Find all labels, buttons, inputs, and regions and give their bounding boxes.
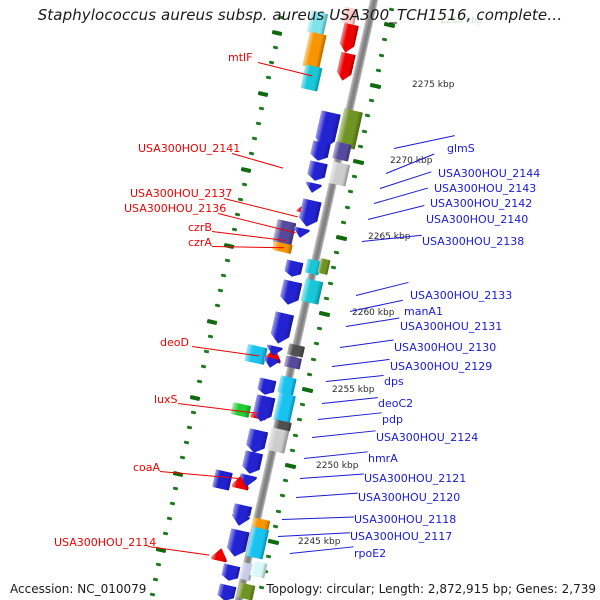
axis-major-tick [318, 311, 330, 317]
axis-minor-tick [221, 273, 227, 277]
gene-feature-body [250, 561, 268, 579]
axis-minor-tick [351, 175, 357, 179]
gene-label[interactable]: USA300HOU_2121 [364, 473, 466, 484]
axis-minor-tick [252, 137, 258, 141]
axis-minor-tick [197, 380, 203, 384]
axis-minor-tick [183, 441, 189, 445]
axis-minor-tick [173, 486, 179, 490]
gene-label[interactable]: USA300HOU_2130 [394, 342, 496, 353]
gene-label[interactable]: USA300HOU_2137 [130, 188, 232, 199]
axis-major-tick [353, 159, 365, 165]
axis-major-tick [258, 91, 269, 97]
axis-minor-tick [344, 205, 350, 209]
gene-label[interactable]: manA1 [404, 306, 443, 317]
axis-tick-label: 2245 kbp [298, 537, 340, 547]
axis-minor-tick [156, 562, 162, 566]
axis-minor-tick [283, 479, 289, 483]
axis-tick-label: 2250 kbp [316, 461, 358, 471]
genome-viewer: 2280 kbp2275 kbp2270 kbp2265 kbp2260 kbp… [0, 0, 600, 600]
axis-minor-tick [382, 38, 388, 42]
gene-label[interactable]: USA300HOU_2117 [350, 531, 452, 542]
gene-label[interactable]: deoC2 [378, 398, 413, 409]
axis-minor-tick [180, 456, 186, 460]
gene-label[interactable]: USA300HOU_2120 [358, 492, 460, 503]
axis-minor-tick [279, 494, 285, 498]
axis-minor-tick [149, 593, 155, 597]
gene-label[interactable]: USA300HOU_2118 [354, 514, 456, 525]
axis-minor-tick [242, 182, 248, 186]
axis-minor-tick [297, 418, 303, 422]
gene-label[interactable]: luxS [154, 394, 178, 405]
axis-minor-tick [317, 327, 323, 331]
gene-feature[interactable] [220, 563, 240, 582]
axis-minor-tick [166, 517, 172, 521]
axis-minor-tick [218, 289, 224, 293]
axis-minor-tick [379, 53, 385, 57]
axis-minor-tick [358, 144, 364, 148]
gene-feature-body [283, 259, 303, 278]
gene-feature[interactable] [283, 259, 303, 278]
axis-minor-tick [224, 258, 230, 262]
axis-minor-tick [187, 425, 193, 429]
axis-minor-tick [266, 555, 272, 559]
gene-feature-body [237, 582, 256, 600]
axis-tick-label: 2275 kbp [412, 80, 454, 90]
axis-minor-tick [259, 106, 265, 110]
axis-minor-tick [255, 121, 261, 125]
axis-minor-tick [375, 68, 381, 72]
axis-minor-tick [207, 334, 213, 338]
axis-minor-tick [310, 357, 316, 361]
axis-major-tick [267, 539, 279, 545]
axis-minor-tick [341, 220, 347, 224]
axis-minor-tick [163, 532, 169, 536]
page-title: Staphylococcus aureus subsp. aureus USA3… [0, 6, 600, 24]
gene-feature[interactable] [250, 561, 268, 579]
gene-label[interactable]: USA300HOU_2138 [422, 236, 524, 247]
axis-minor-tick [365, 114, 371, 118]
axis-major-tick [284, 463, 296, 469]
gene-label[interactable]: pdp [382, 414, 403, 425]
axis-minor-tick [293, 433, 299, 437]
axis-minor-tick [272, 45, 278, 49]
axis-major-tick [272, 30, 283, 36]
axis-minor-tick [266, 76, 272, 80]
gene-label[interactable]: coaA [133, 462, 160, 473]
axis-minor-tick [214, 304, 220, 308]
gene-label[interactable]: hmrA [368, 453, 398, 464]
gene-feature[interactable] [237, 582, 256, 600]
gene-label[interactable]: USA300HOU_2143 [434, 183, 536, 194]
axis-minor-tick [259, 585, 265, 589]
axis-minor-tick [204, 349, 210, 353]
gene-label[interactable]: USA300HOU_2124 [376, 432, 478, 443]
axis-minor-tick [327, 281, 333, 285]
gene-label[interactable]: deoD [160, 337, 189, 348]
gene-label[interactable]: czrB [188, 222, 212, 233]
axis-major-tick [336, 235, 348, 241]
axis-minor-tick [362, 129, 368, 133]
axis-minor-tick [300, 403, 306, 407]
axis-tick-label: 2255 kbp [332, 385, 374, 395]
gene-label[interactable]: USA300HOU_2140 [426, 214, 528, 225]
gene-label[interactable]: dps [384, 376, 404, 387]
axis-major-tick [190, 395, 201, 401]
axis-minor-tick [324, 296, 330, 300]
axis-minor-tick [153, 577, 159, 581]
gene-label[interactable]: USA300HOU_2142 [430, 198, 532, 209]
axis-minor-tick [290, 448, 296, 452]
gene-label[interactable]: glmS [447, 143, 475, 154]
gene-label[interactable]: rpoE2 [354, 548, 386, 559]
axis-minor-tick [190, 410, 196, 414]
axis-major-tick [301, 387, 313, 393]
axis-major-tick [207, 319, 218, 325]
axis-minor-tick [235, 213, 241, 217]
axis-major-tick [241, 167, 252, 173]
axis-minor-tick [170, 501, 176, 505]
axis-major-tick [370, 83, 382, 89]
axis-minor-tick [314, 342, 320, 346]
gene-label[interactable]: mtlF [228, 52, 252, 63]
axis-minor-tick [273, 524, 279, 528]
gene-label[interactable]: USA300HOU_2133 [410, 290, 512, 301]
axis-minor-tick [248, 152, 254, 156]
axis-minor-tick [307, 372, 313, 376]
gene-feature-body [220, 563, 240, 582]
gene-label[interactable]: USA300HOU_2144 [438, 168, 540, 179]
axis-minor-tick [201, 365, 207, 369]
axis-minor-tick [334, 251, 340, 255]
gene-label[interactable]: USA300HOU_2114 [54, 537, 156, 548]
gene-feature-body [216, 583, 236, 600]
axis-minor-tick [368, 99, 374, 103]
axis-minor-tick [231, 228, 237, 232]
gene-label[interactable]: USA300HOU_2141 [138, 143, 240, 154]
gene-label[interactable]: USA300HOU_2129 [390, 361, 492, 372]
gene-label[interactable]: USA300HOU_2136 [124, 203, 226, 214]
axis-minor-tick [276, 509, 282, 513]
gene-feature[interactable] [216, 583, 236, 600]
gene-label[interactable]: USA300HOU_2131 [400, 321, 502, 332]
gene-label[interactable]: czrA [188, 237, 212, 248]
axis-minor-tick [331, 266, 337, 270]
axis-minor-tick [348, 190, 354, 194]
